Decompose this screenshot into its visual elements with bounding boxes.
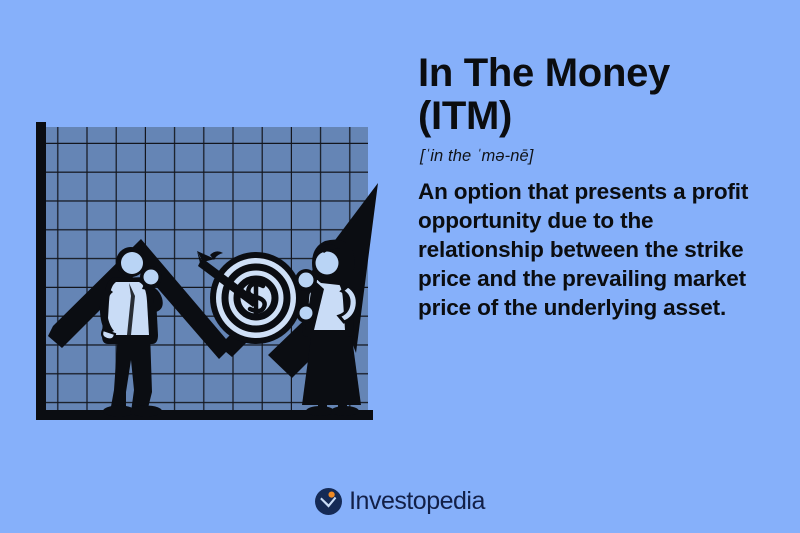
title-line-2: (ITM) [418,94,512,138]
term-text-column: In The Money(ITM) [ˈin the ˈmə-nē] An op… [418,52,784,322]
investopedia-logo-icon [315,488,342,515]
brand-name: Investopedia [349,489,485,514]
chart-illustration-svg [0,0,400,470]
pronunciation-text: [ˈin the ˈmə-nē] [420,147,784,166]
bullseye-target-icon [210,252,302,344]
title-line-1: In The Money [418,51,670,95]
brand-footer: Investopedia [0,488,800,515]
illustration [0,0,400,470]
page-title: In The Money(ITM) [418,52,784,138]
definition-text: An option that presents a profit opportu… [418,178,784,322]
definition-card: In The Money(ITM) [ˈin the ˈmə-nē] An op… [0,0,800,533]
